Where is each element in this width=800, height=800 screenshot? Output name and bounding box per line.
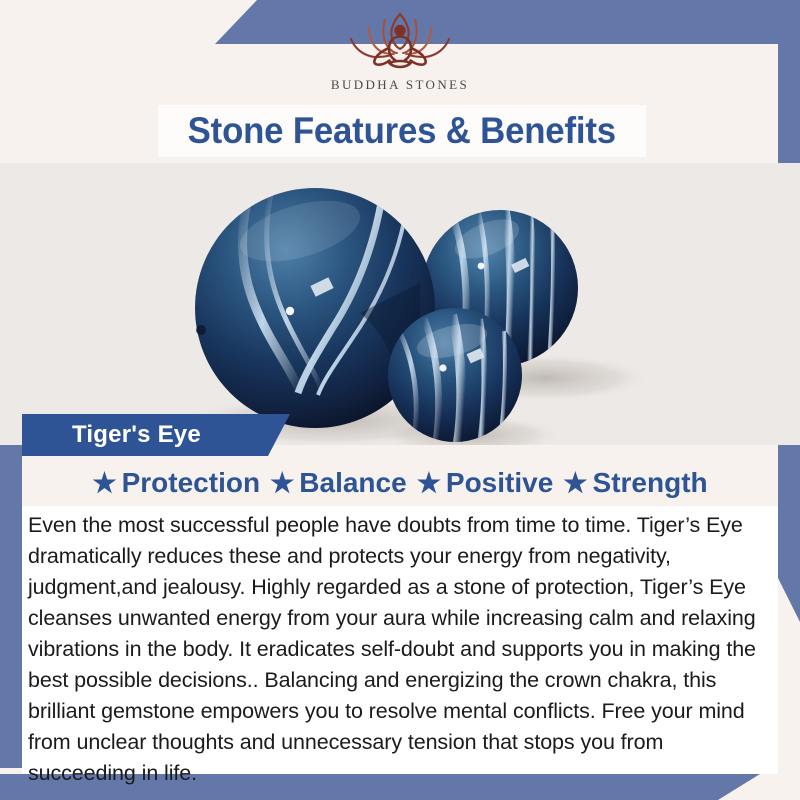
page-title-band: Stone Features & Benefits xyxy=(158,105,646,157)
benefit-item-strength: ★ Strength xyxy=(563,467,707,499)
benefit-label: Strength xyxy=(593,467,708,499)
stone-name-label: Tiger's Eye xyxy=(72,421,201,449)
poster-root: BUDDHA STONES Stone Features & Benefits xyxy=(0,0,800,800)
gemstone-spheres-image xyxy=(0,163,800,445)
star-icon: ★ xyxy=(270,470,294,497)
lotus-meditation-icon xyxy=(325,8,475,76)
brand-name: BUDDHA STONES xyxy=(331,77,469,93)
stone-name-ribbon: Tiger's Eye xyxy=(22,414,290,456)
benefit-item-protection: ★ Protection xyxy=(92,467,260,499)
benefit-item-positive: ★ Positive xyxy=(417,467,554,499)
description-text: Even the most successful people have dou… xyxy=(22,510,778,789)
benefit-label: Positive xyxy=(446,467,553,499)
description-card: Even the most successful people have dou… xyxy=(22,506,778,774)
benefit-label: Balance xyxy=(299,467,406,499)
star-icon: ★ xyxy=(92,470,116,497)
page-title: Stone Features & Benefits xyxy=(188,110,616,152)
product-photo xyxy=(0,163,800,445)
star-icon: ★ xyxy=(563,470,587,497)
benefit-label: Protection xyxy=(122,467,260,499)
star-icon: ★ xyxy=(417,470,441,497)
brand-logo: BUDDHA STONES xyxy=(0,8,800,104)
benefit-item-balance: ★ Balance xyxy=(270,467,407,499)
benefits-row: ★ Protection ★ Balance ★ Positive ★ Stre… xyxy=(0,460,800,506)
